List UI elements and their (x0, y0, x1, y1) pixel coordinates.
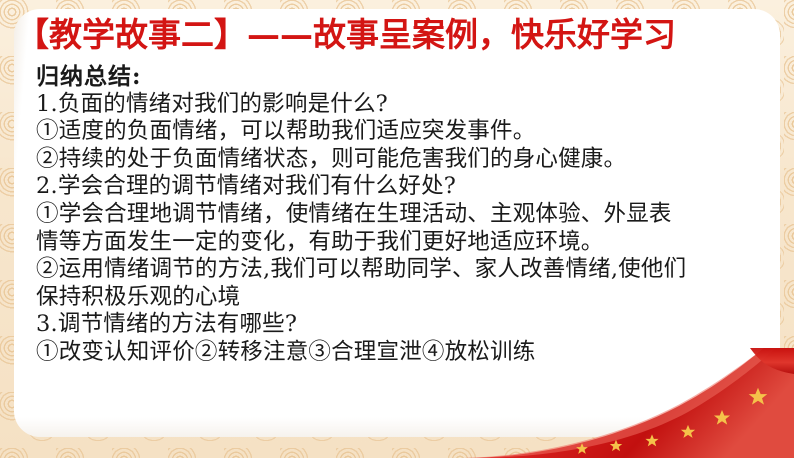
summary-body: 归纳总结: 1.负面的情绪对我们的影响是什么? ①适度的负面情绪，可以帮助我们适… (36, 63, 748, 367)
body-line-7: ②运用情绪调节的方法,我们可以帮助同学、家人改善情绪,使他们 (36, 256, 748, 284)
page-title: 【教学故事二】——故事呈案例，快乐好学习 (16, 15, 676, 55)
body-line-8: 保持积极乐观的心境 (36, 284, 748, 312)
body-line-10: ①改变认知评价②转移注意③合理宣泄④放松训练 (36, 339, 748, 367)
body-line-9: 3.调节情绪的方法有哪些? (36, 311, 748, 339)
body-line-2: ①适度的负面情绪，可以帮助我们适应突发事件。 (36, 118, 748, 146)
body-line-6: 情等方面发生一定的变化，有助于我们更好地适应环境。 (36, 229, 748, 257)
body-line-4: 2.学会合理的调节情绪对我们有什么好处? (36, 173, 748, 201)
body-line-5: ①学会合理地调节情绪，使情绪在生理活动、主观体验、外显表 (36, 201, 748, 229)
body-line-3: ②持续的处于负面情绪状态，则可能危害我们的身心健康。 (36, 146, 748, 174)
summary-heading: 归纳总结: (36, 63, 748, 91)
slide-title: 【教学故事二】——故事呈案例，快乐好学习 (16, 11, 676, 59)
body-line-1: 1.负面的情绪对我们的影响是什么? (36, 91, 748, 119)
slide-canvas: 【教学故事二】——故事呈案例，快乐好学习 归纳总结: 1.负面的情绪对我们的影响… (0, 0, 794, 458)
